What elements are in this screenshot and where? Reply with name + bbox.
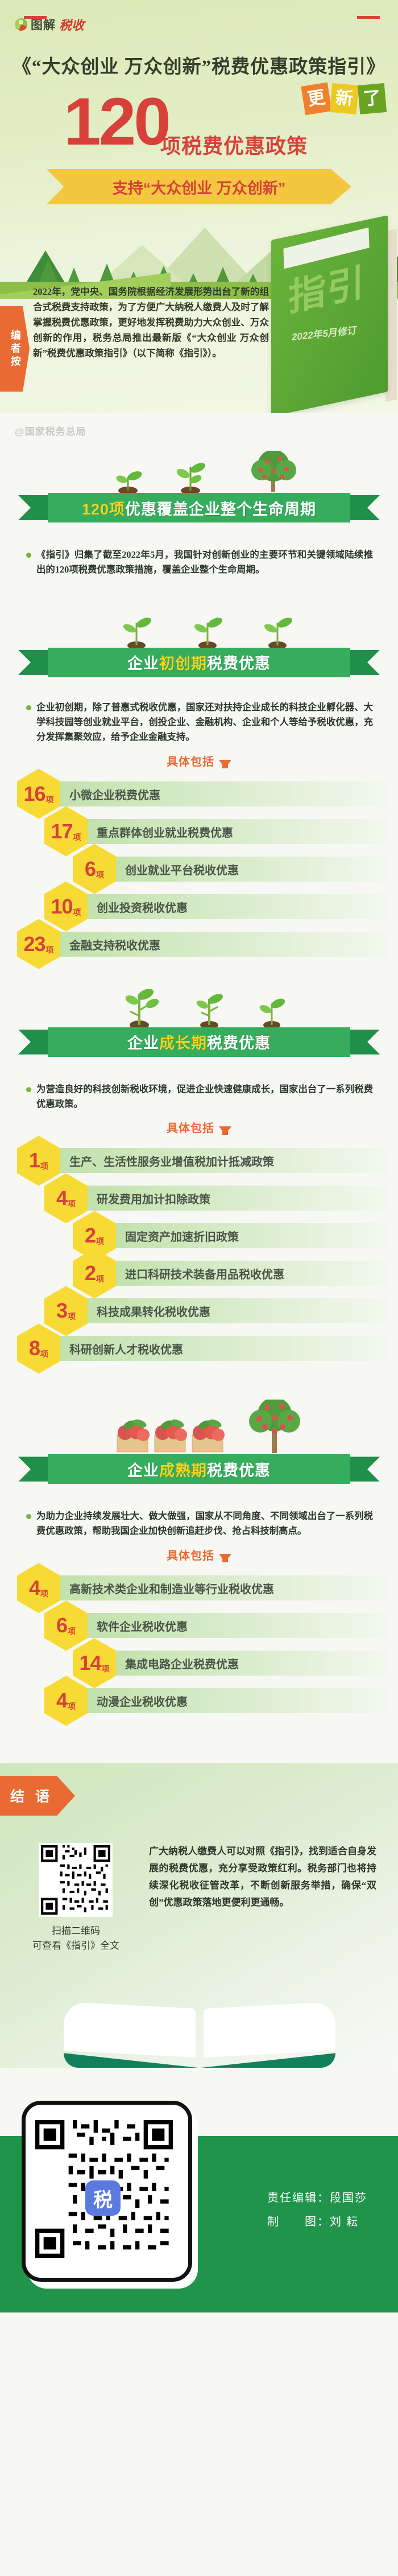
- policy-item-label: 生产、生活性服务业增值税加计抵减政策: [69, 1153, 274, 1169]
- policy-item-count-badge: 4项: [44, 1676, 88, 1726]
- qr-caption-line-2: 可查看《指引》全文: [20, 1939, 131, 1953]
- update-badge-char-1: 更: [301, 83, 331, 116]
- policy-item-count: 17: [51, 821, 72, 842]
- book-page-left: [64, 2002, 196, 2057]
- policy-item-count: 1: [29, 1150, 40, 1171]
- hero-banner: 图解 税收 《“大众创业 万众创新”税费优惠政策指引》 120 项税费优惠政策 …: [0, 0, 398, 413]
- section-title-prefix-2: 企业: [127, 1035, 159, 1052]
- policy-item-count: 23: [23, 934, 45, 954]
- credit-designer: 制 图：刘 耘: [267, 2210, 367, 2234]
- conclusion-tab: 结 语: [0, 1776, 75, 1816]
- section-paragraph-3: 为助力企业持续发展壮大、做大做强，国家从不同角度、不同领域出台了一系列税费优惠政…: [25, 1509, 373, 1538]
- conclusion-section: 结 语: [0, 1763, 398, 2068]
- app-qr-card[interactable]: 税: [22, 2101, 201, 2289]
- open-book-illustration: [64, 2005, 335, 2068]
- policy-item-count: 4: [56, 1690, 67, 1711]
- policy-item-count-badge: 6项: [73, 844, 116, 894]
- conclusion-tab-label: 结 语: [10, 1785, 53, 1806]
- guideline-book-illustration: 指引 2022年5月修订: [271, 228, 388, 404]
- section-title-suffix-3: 税费优惠: [207, 1462, 271, 1479]
- update-badge-char-3: 了: [358, 83, 387, 114]
- pie-chart-icon: [15, 18, 27, 31]
- headline-number: 120: [64, 88, 169, 155]
- section-title-suffix-2: 税费优惠: [207, 1035, 271, 1052]
- include-label-1: 具体包括: [0, 752, 398, 769]
- three-sprouts-svg: [0, 606, 398, 648]
- policy-item-count-badge: 1项: [17, 1135, 60, 1186]
- qr-caption-line-1: 扫描二维码: [20, 1924, 131, 1939]
- policy-item-label: 进口科研技术装备用品税收优惠: [125, 1265, 284, 1282]
- headline-suffix: 项税费优惠政策: [160, 130, 308, 159]
- policy-item-count: 10: [51, 896, 72, 917]
- policy-item[interactable]: 2项进口科研技术装备用品税收优惠: [0, 1257, 398, 1289]
- policy-item[interactable]: 10项创业投资税收优惠: [0, 891, 398, 923]
- watermark-top: @国家税务总局: [15, 423, 86, 438]
- apple-baskets-tree-svg: [0, 1400, 398, 1454]
- include-label-2: 具体包括: [0, 1119, 398, 1135]
- section-title-2: 企业成长期税费优惠: [127, 1031, 271, 1053]
- policy-item-label: 软件企业税收优惠: [97, 1618, 188, 1634]
- policy-item-unit: 项: [102, 1663, 110, 1674]
- policy-item-unit: 项: [46, 794, 54, 805]
- policy-item-count: 4: [56, 1188, 67, 1208]
- guideline-qr-code[interactable]: [39, 1843, 113, 1917]
- policy-item-unit: 项: [73, 907, 81, 918]
- policy-item-unit: 项: [96, 1236, 104, 1247]
- policy-item[interactable]: 17项重点群体创业就业税费优惠: [0, 816, 398, 847]
- policy-item-unit: 项: [68, 1311, 76, 1322]
- policy-item-label: 创业就业平台税收优惠: [125, 861, 239, 878]
- policy-item-count: 6: [56, 1615, 67, 1636]
- banner-dash-right: [357, 16, 380, 19]
- policy-item[interactable]: 16项小微企业税费优惠: [0, 778, 398, 810]
- policy-item-count: 14: [79, 1653, 101, 1673]
- policy-item-count-badge: 2项: [73, 1248, 116, 1298]
- policy-item[interactable]: 8项科研创新人才税收优惠: [0, 1332, 398, 1364]
- policy-item-unit: 项: [46, 944, 54, 956]
- policy-item-count-badge: 6项: [44, 1600, 88, 1651]
- ribbon-plate: 120项优惠覆盖企业整个生命周期: [48, 493, 350, 522]
- policy-item-label: 科研创新人才税收优惠: [69, 1340, 183, 1357]
- policy-item-label: 高新技术类企业和制造业等行业税收优惠: [69, 1580, 274, 1596]
- policy-item-count: 2: [85, 1225, 96, 1246]
- ribbon-plate: 企业成熟期税费优惠: [48, 1454, 350, 1484]
- section-ribbon-3: 企业成熟期税费优惠: [18, 1454, 380, 1484]
- policy-item-count-badge: 4项: [17, 1563, 60, 1613]
- policy-item[interactable]: 4项高新技术类企业和制造业等行业税收优惠: [0, 1572, 398, 1604]
- policy-item-count-badge: 16项: [17, 769, 60, 819]
- policy-item-label: 研发费用加计扣除政策: [97, 1190, 210, 1207]
- section-paragraph-1: 企业初创期，除了普惠式税收优惠，国家还对扶持企业成长的科技企业孵化器、大学科技园…: [25, 700, 373, 744]
- down-arrow-icon: [219, 1554, 231, 1562]
- editor-note-tab-label: 编者按: [8, 330, 21, 369]
- page-title: 《“大众创业 万众创新”税费优惠政策指引》: [0, 51, 398, 79]
- policy-item-unit: 项: [73, 832, 81, 843]
- include-label-3: 具体包括: [0, 1546, 398, 1563]
- content-body: @国家税务总局: [0, 413, 398, 1763]
- conclusion-paragraph: 广大纳税人缴费人可以对照《指引》，找到适合自身发展的税费优惠，充分享受政策红利。…: [149, 1843, 376, 1911]
- policy-item-list-2: 1项生产、生活性服务业增值税加计抵减政策4项研发费用加计扣除政策2项固定资产加速…: [0, 1145, 398, 1364]
- include-label-text-1: 具体包括: [167, 756, 214, 768]
- section-title-suffix-1: 税费优惠: [207, 655, 271, 672]
- editor-note-tab: 编者按: [0, 306, 30, 392]
- section-ribbon-2: 企业成长期税费优惠: [18, 1027, 380, 1057]
- credit-editor: 责任编辑：段国莎: [267, 2186, 367, 2210]
- policy-item-list-1: 16项小微企业税费优惠17项重点群体创业就业税费优惠6项创业就业平台税收优惠10…: [0, 778, 398, 960]
- policy-item-label: 小微企业税费优惠: [69, 786, 160, 803]
- policy-item-unit: 项: [68, 1701, 76, 1712]
- section-title-highlight-2: 成长期: [159, 1035, 207, 1052]
- policy-item-label: 创业投资税收优惠: [97, 899, 188, 915]
- policy-item[interactable]: 3项科技成果转化税收优惠: [0, 1295, 398, 1327]
- logo-text-accent: 税收: [59, 15, 84, 34]
- policy-item-count-badge: 8项: [17, 1323, 60, 1373]
- qr-code-icon: [41, 1845, 110, 1915]
- section-title-highlight-3: 成熟期: [159, 1462, 207, 1479]
- ribbon-plate: 企业成长期税费优惠: [48, 1027, 350, 1057]
- policy-item-count-badge: 17项: [44, 806, 88, 857]
- growth-illustration-3: [0, 985, 398, 1027]
- down-arrow-icon: [219, 1126, 231, 1135]
- policy-item-list-3: 4项高新技术类企业和制造业等行业税收优惠6项软件企业税收优惠14项集成电路企业税…: [0, 1572, 398, 1717]
- down-arrow-icon: [219, 760, 231, 768]
- policy-item-unit: 项: [68, 1198, 76, 1209]
- policy-item[interactable]: 6项软件企业税收优惠: [0, 1610, 398, 1641]
- policy-item-count: 8: [29, 1338, 40, 1359]
- growth-illustration-4: [0, 1400, 398, 1454]
- book-spine: [64, 2053, 335, 2068]
- policy-item-unit: 项: [40, 1588, 48, 1599]
- policy-item[interactable]: 1项生产、生活性服务业增值税加计抵减政策: [0, 1145, 398, 1176]
- section-ribbon-1: 企业初创期税费优惠: [18, 648, 380, 677]
- editor-intro-paragraph: 2022年，党中央、国务院根据经济发展形势出台了新的组合式税费支持政策，为了方便…: [33, 285, 269, 361]
- qr-caption: 扫描二维码 可查看《指引》全文: [20, 1924, 131, 1953]
- policy-item-label: 动漫企业税收优惠: [97, 1693, 188, 1709]
- update-badge: 更 新 了: [303, 84, 385, 113]
- policy-item[interactable]: 23项金融支持税收优惠: [0, 928, 398, 960]
- footer-credits: 责任编辑：段国莎 制 图：刘 耘: [267, 2186, 367, 2234]
- section-title-3: 企业成熟期税费优惠: [127, 1458, 271, 1480]
- section-title-0: 120项优惠覆盖企业整个生命周期: [82, 497, 316, 519]
- policy-item-count: 3: [56, 1301, 67, 1321]
- policy-item[interactable]: 4项动漫企业税收优惠: [0, 1685, 398, 1717]
- tax-app-badge: 税: [85, 2180, 121, 2216]
- policy-item-label: 集成电路企业税费优惠: [125, 1655, 239, 1672]
- policy-item-unit: 项: [68, 1626, 76, 1637]
- policy-item-unit: 项: [96, 869, 104, 880]
- policy-item-label: 金融支持税收优惠: [69, 936, 160, 953]
- section-paragraph-0: 《指引》归集了截至2022年5月，我国针对创新创业的主要环节和关键领域陆续推出的…: [25, 548, 373, 577]
- sprouts-tree-svg: [0, 451, 398, 493]
- policy-item-count: 6: [85, 859, 96, 879]
- policy-item-label: 科技成果转化税收优惠: [97, 1303, 210, 1319]
- policy-item[interactable]: 6项创业就业平台税收优惠: [0, 853, 398, 885]
- subtitle-banner-text: 支持“大众创业 万众创新”: [113, 176, 286, 198]
- growth-illustration-2: [0, 606, 398, 648]
- section-title-highlight-1: 初创期: [159, 655, 207, 672]
- policy-item-count-badge: 4项: [44, 1173, 88, 1223]
- policy-item-count: 16: [23, 784, 45, 804]
- policy-item-count-badge: 3项: [44, 1286, 88, 1336]
- policy-item-count-badge: 14项: [73, 1638, 116, 1688]
- include-label-text-3: 具体包括: [167, 1550, 214, 1562]
- policy-item-unit: 项: [96, 1273, 104, 1285]
- ribbon-plate: 企业初创期税费优惠: [48, 648, 350, 677]
- book-page-right: [204, 2002, 335, 2057]
- policy-item-count: 2: [85, 1263, 96, 1283]
- include-label-text-2: 具体包括: [167, 1122, 214, 1135]
- section-title-prefix-1: 企业: [127, 655, 159, 672]
- policy-item[interactable]: 14项集成电路企业税费优惠: [0, 1647, 398, 1679]
- section-title-main-0: 优惠覆盖企业整个生命周期: [125, 501, 316, 518]
- policy-item-count-badge: 10项: [44, 882, 88, 932]
- policy-item-count: 4: [29, 1578, 40, 1598]
- policy-item-unit: 项: [40, 1161, 48, 1172]
- section-paragraph-2: 为营造良好的科技创新税收环境，促进企业快速健康成长，国家出台了一系列税费优惠政策…: [25, 1082, 373, 1112]
- section-ribbon-0: 120项优惠覆盖企业整个生命周期: [18, 493, 380, 522]
- update-badge-char-2: 新: [330, 83, 359, 114]
- banner-dash-left: [24, 16, 47, 19]
- growth-illustration-1: [0, 451, 398, 493]
- section-title-highlight-0: 120项: [82, 501, 125, 518]
- page-footer: @国家税务总局: [0, 2068, 398, 2312]
- policy-item-label: 固定资产加速折旧政策: [125, 1228, 239, 1244]
- policy-item[interactable]: 2项固定资产加速折旧政策: [0, 1220, 398, 1252]
- section-title-prefix-3: 企业: [127, 1462, 159, 1479]
- three-saplings-svg: [0, 985, 398, 1027]
- policy-item-unit: 项: [40, 1348, 48, 1360]
- section-title-1: 企业初创期税费优惠: [127, 651, 271, 673]
- policy-item[interactable]: 4项研发费用加计扣除政策: [0, 1182, 398, 1214]
- policy-item-label: 重点群体创业就业税费优惠: [97, 824, 233, 840]
- policy-item-count-badge: 23项: [17, 919, 60, 969]
